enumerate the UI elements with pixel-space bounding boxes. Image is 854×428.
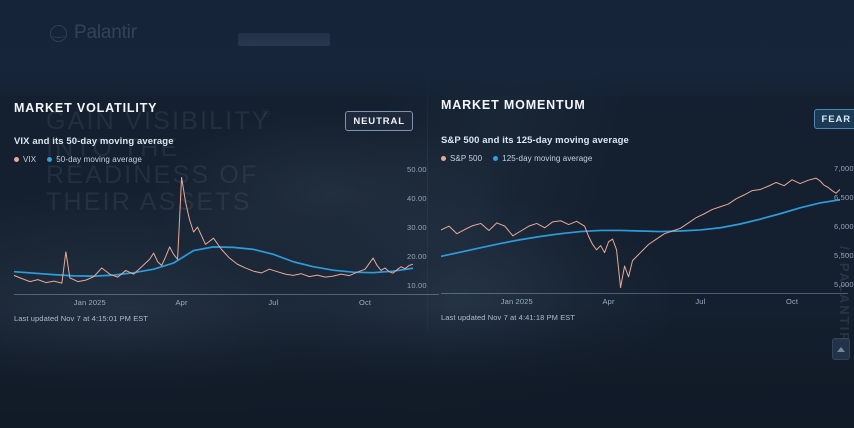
series-line — [14, 177, 413, 283]
legend-dot-icon — [493, 156, 498, 161]
x-axis-tick: Jan 2025 — [501, 297, 533, 306]
legend-dot-icon — [14, 157, 19, 162]
y-axis-tick: 7,000.00 — [834, 165, 854, 173]
last-updated-text: Last updated Nov 7 at 4:41:18 PM EST — [441, 313, 840, 322]
volatility-line-chart — [14, 170, 413, 294]
chart-plot-area[interactable]: 50.00 40.00 30.00 20.00 10.00 — [14, 170, 413, 294]
y-axis-tick: 6,000.00 — [834, 223, 854, 231]
dashboard-panels: MARKET VOLATILITY NEUTRAL VIX and its 50… — [0, 0, 854, 428]
momentum-line-chart — [441, 169, 840, 293]
legend-label: 50-day moving average — [56, 155, 142, 164]
y-axis-tick: 5,000.00 — [834, 281, 854, 289]
x-axis-tick: Jan 2025 — [74, 298, 106, 307]
series-line — [441, 178, 840, 287]
x-axis-tick: Apr — [176, 298, 188, 307]
legend-dot-icon — [441, 156, 446, 161]
chart-subtitle: VIX and its 50-day moving average — [14, 136, 413, 147]
legend-label: VIX — [23, 155, 36, 164]
y-axis-labels: 7,000.00 6,500.00 6,000.00 5,500.00 5,00… — [834, 169, 854, 293]
x-axis-tick: Oct — [786, 297, 798, 306]
legend-item-sp500[interactable]: S&P 500 — [441, 154, 482, 163]
legend-item-moving-average[interactable]: 50-day moving average — [47, 155, 142, 164]
legend-label: S&P 500 — [450, 154, 482, 163]
x-axis-tick: Jul — [695, 297, 705, 306]
chart-legend: VIX 50-day moving average — [14, 155, 413, 164]
chart-legend: S&P 500 125-day moving average — [441, 154, 840, 163]
panel-market-volatility: MARKET VOLATILITY NEUTRAL VIX and its 50… — [0, 0, 427, 428]
series-line — [441, 200, 840, 257]
legend-label: 125-day moving average — [502, 154, 592, 163]
chart-subtitle: S&P 500 and its 125-day moving average — [441, 135, 840, 146]
legend-item-vix[interactable]: VIX — [14, 155, 36, 164]
x-axis-labels: Jan 2025 Apr Jul Oct — [14, 298, 413, 310]
x-axis-tick: Jul — [268, 298, 278, 307]
y-axis-tick: 6,500.00 — [834, 194, 854, 202]
panel-market-momentum: MARKET MOMENTUM FEAR S&P 500 and its 125… — [427, 0, 854, 428]
panel-title: MARKET MOMENTUM — [441, 98, 840, 112]
panel-divider — [427, 70, 428, 332]
x-axis-labels: Jan 2025 Apr Jul Oct — [441, 297, 840, 309]
legend-item-moving-average[interactable]: 125-day moving average — [493, 154, 592, 163]
last-updated-text: Last updated Nov 7 at 4:15:01 PM EST — [14, 314, 413, 323]
x-axis-line — [14, 294, 439, 295]
status-badge: NEUTRAL — [345, 111, 413, 131]
series-line — [14, 247, 413, 276]
chart-plot-area[interactable]: 7,000.00 6,500.00 6,000.00 5,500.00 5,00… — [441, 169, 840, 293]
x-axis-line — [441, 293, 848, 294]
y-axis-tick: 5,500.00 — [834, 252, 854, 260]
x-axis-tick: Oct — [359, 298, 371, 307]
legend-dot-icon — [47, 157, 52, 162]
status-badge: FEAR — [814, 109, 854, 129]
x-axis-tick: Apr — [603, 297, 615, 306]
